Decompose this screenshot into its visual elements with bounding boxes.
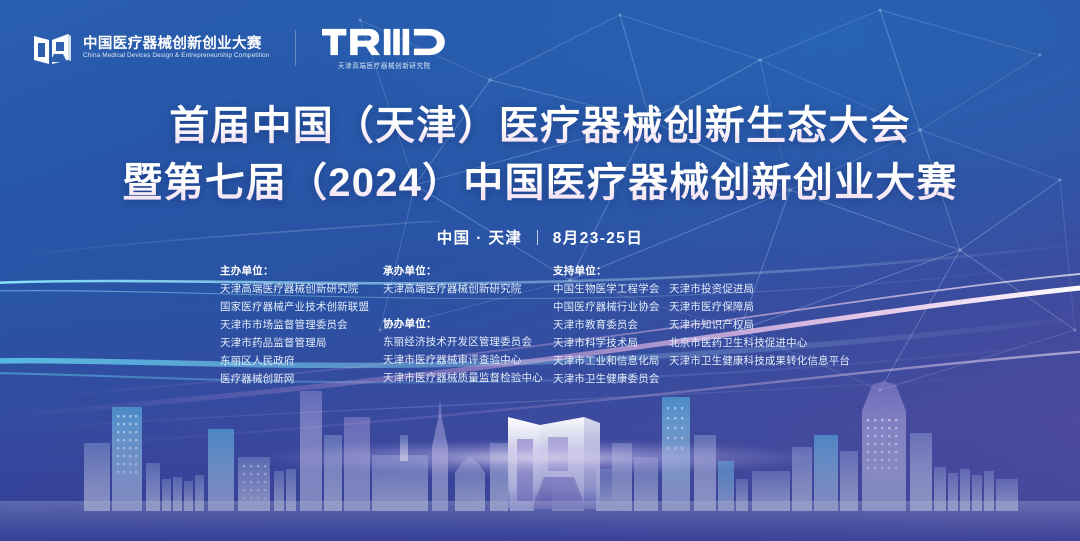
organizer-item: 天津市工业和信息化局 — [553, 352, 669, 370]
header-divider — [295, 30, 296, 66]
organizer-item: 东丽经济技术开发区管理委员会 — [383, 333, 553, 351]
organizer-column-supporter-b: 天津市投资促进局 天津市医疗保障局 天津市知识产权局 北京市医药卫生科技促进中心… — [669, 262, 850, 370]
organizer-item: 中国生物医学工程学会 — [553, 280, 669, 298]
competition-logo-en: China Medical Devices Design & Entrepren… — [83, 53, 269, 60]
organizer-item: 国家医疗器械产业技术创新联盟 — [220, 298, 383, 316]
organizer-item: 天津市医疗器械质量监督检验中心 — [383, 369, 553, 387]
organizer-item: 天津市卫生健康科技成果转化信息平台 — [669, 352, 850, 370]
organizer-item: 中国医疗器械行业协会 — [553, 298, 669, 316]
institute-logo-cn: 天津高端医疗器械创新研究院 — [338, 60, 431, 70]
institute-logo: 天津高端医疗器械创新研究院 — [322, 27, 446, 70]
page-title-line1: 首届中国（天津）医疗器械创新生态大会 — [0, 98, 1080, 155]
event-meta: 中国 · 天津 8月23-25日 — [0, 226, 1080, 248]
organizer-item: 天津市教育委员会 — [553, 316, 669, 334]
organizer-heading — [669, 262, 850, 280]
organizer-list: 主办单位： 天津高端医疗器械创新研究院 国家医疗器械产业技术创新联盟 天津市市场… — [220, 262, 1020, 388]
bottom-vignette — [0, 421, 1080, 541]
organizer-item: 北京市医药卫生科技促进中心 — [669, 334, 850, 352]
organizer-item: 医疗器械创新网 — [220, 370, 383, 388]
organizer-item: 东丽区人民政府 — [220, 352, 383, 370]
page-title-line2: 暨第七届（2024）中国医疗器械创新创业大赛 — [0, 155, 1080, 212]
organizer-item: 天津市市场监督管理委员会 — [220, 316, 383, 334]
event-location: 中国 · 天津 — [437, 230, 523, 247]
organizer-column-supporter-a: 支持单位： 中国生物医学工程学会 中国医疗器械行业协会 天津市教育委员会 天津市… — [553, 262, 669, 388]
organizer-item: 天津市药品监督管理局 — [220, 334, 383, 352]
organizer-item: 天津市医疗保障局 — [669, 298, 850, 316]
organizer-column-host: 主办单位： 天津高端医疗器械创新研究院 国家医疗器械产业技术创新联盟 天津市市场… — [220, 262, 383, 388]
organizer-item: 天津市卫生健康委员会 — [553, 370, 669, 388]
event-date: 8月23-25日 — [553, 230, 643, 247]
center-emblem-icon — [508, 417, 600, 509]
open-book-door-mark-icon — [30, 26, 74, 70]
event-meta-separator — [537, 230, 538, 245]
organizer-item: 天津高端医疗器械创新研究院 — [383, 280, 553, 298]
organizer-heading: 主办单位： — [220, 262, 383, 280]
competition-logo-cn: 中国医疗器械创新创业大赛 — [83, 37, 269, 52]
organizer-heading: 支持单位： — [553, 262, 669, 280]
organizer-column-spacer — [383, 298, 553, 315]
organizer-item: 天津市科学技术局 — [553, 334, 669, 352]
center-ground-glow — [260, 441, 820, 475]
organizer-heading: 协办单位： — [383, 315, 553, 333]
banner-title: 首届中国（天津）医疗器械创新生态大会 暨第七届（2024）中国医疗器械创新创业大… — [0, 98, 1080, 212]
organizer-item: 天津市医疗器械审评查验中心 — [383, 351, 553, 369]
banner-header: 中国医疗器械创新创业大赛 China Medical Devices Desig… — [30, 26, 446, 70]
organizer-item: 天津市投资促进局 — [669, 280, 850, 298]
conference-banner: 中国医疗器械创新创业大赛 China Medical Devices Desig… — [0, 0, 1080, 541]
competition-logo: 中国医疗器械创新创业大赛 China Medical Devices Desig… — [30, 26, 269, 70]
organizer-column-undertaker: 承办单位： 天津高端医疗器械创新研究院 协办单位： 东丽经济技术开发区管理委员会… — [383, 262, 553, 387]
organizer-item: 天津高端医疗器械创新研究院 — [220, 280, 383, 298]
organizer-heading: 承办单位： — [383, 262, 553, 280]
organizer-item: 天津市知识产权局 — [669, 316, 850, 334]
trmd-wordmark-icon — [322, 27, 446, 57]
